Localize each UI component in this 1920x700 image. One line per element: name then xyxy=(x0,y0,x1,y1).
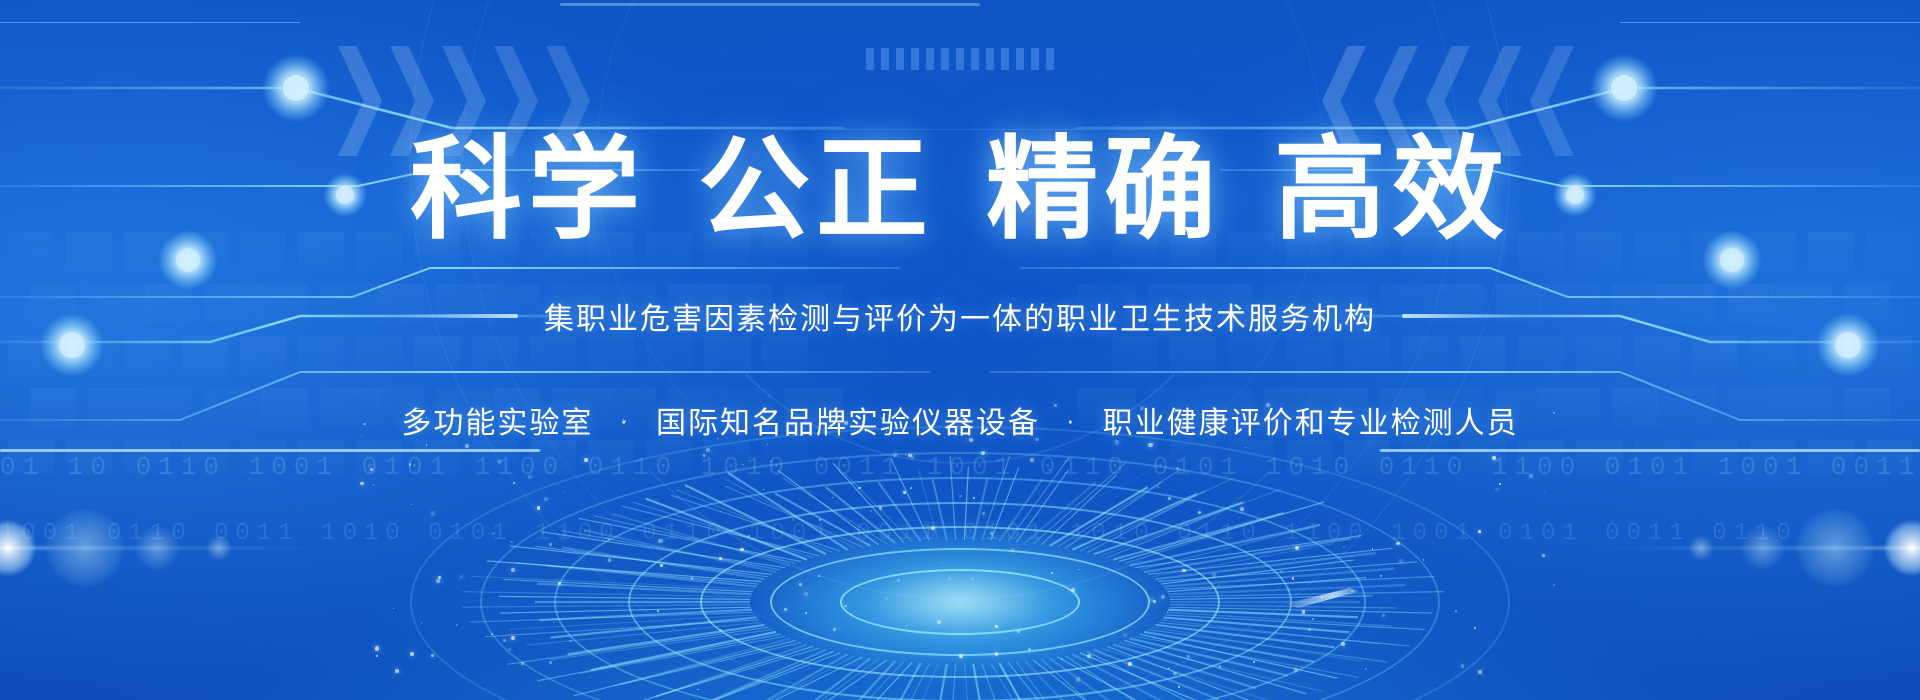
subtitle-rule-left xyxy=(400,314,518,318)
headline-word-2: 公正 xyxy=(698,134,934,246)
hero-banner: 01 10 0110 1001 0101 1100 0110 1010 0011… xyxy=(0,0,1920,700)
subtitle-row: 集职业危害因素检测与评价为一体的职业卫生技术服务机构 xyxy=(400,294,1520,338)
headline: 科学 公正 精确 高效 xyxy=(384,134,1536,246)
feature-item-2: 国际知名品牌实验仪器设备 xyxy=(656,398,1040,442)
feature-item-1: 多功能实验室 xyxy=(401,398,593,442)
headline-word-3: 精确 xyxy=(986,134,1222,246)
subtitle-rule-right xyxy=(1402,314,1520,318)
feature-separator-2: · xyxy=(1066,405,1077,436)
feature-list: 多功能实验室 · 国际知名品牌实验仪器设备 · 职业健康评价和专业检测人员 xyxy=(401,398,1518,442)
feature-item-3: 职业健康评价和专业检测人员 xyxy=(1103,398,1519,442)
headline-word-1: 科学 xyxy=(410,134,646,246)
subtitle: 集职业危害因素检测与评价为一体的职业卫生技术服务机构 xyxy=(544,294,1376,338)
banner-content: 科学 公正 精确 高效 集职业危害因素检测与评价为一体的职业卫生技术服务机构 多… xyxy=(0,0,1920,700)
feature-separator-1: · xyxy=(619,405,630,436)
headline-word-4: 高效 xyxy=(1274,134,1510,246)
